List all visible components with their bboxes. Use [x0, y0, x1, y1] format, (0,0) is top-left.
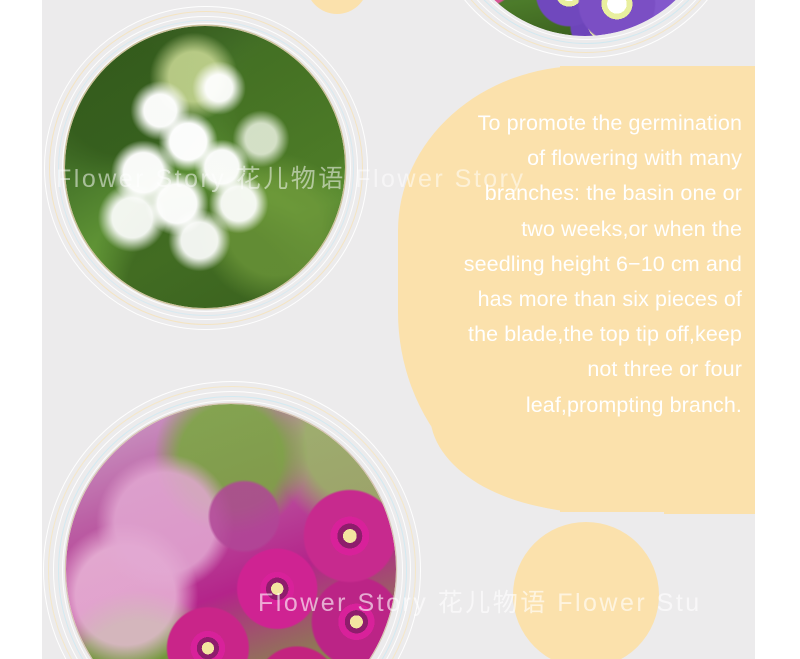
care-instructions-text: To promote the germination of flowering …	[420, 106, 742, 423]
copy-line: has more than six pieces of	[420, 282, 742, 317]
copy-line: leaf,prompting branch.	[420, 388, 742, 423]
copy-line: of flowering with many	[420, 141, 742, 176]
copy-line: two weeks,or when the	[420, 212, 742, 247]
cream-wedge-right-icon	[664, 418, 755, 514]
copy-line: seedling height 6−10 cm and	[420, 247, 742, 282]
copy-line: To promote the germination	[420, 106, 742, 141]
copy-line: the blade,the top tip off,keep	[420, 317, 742, 352]
copy-line: not three or four	[420, 352, 742, 387]
watermark-bottom: Flower Story 花儿物语 Flower Stu	[258, 583, 702, 619]
copy-line: branches: the basin one or	[420, 176, 742, 211]
flower-care-infographic: Flower Story 花儿物语 Flower Story Flower St…	[0, 0, 800, 659]
